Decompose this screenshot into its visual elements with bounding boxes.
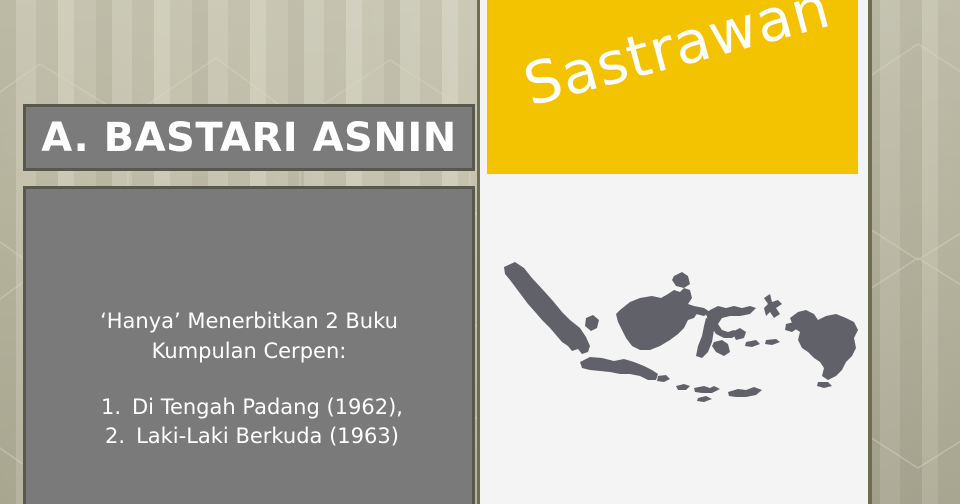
panel-left-divider bbox=[477, 0, 480, 504]
slide-canvas: Sastrawan bbox=[0, 0, 960, 504]
category-banner-label: Sastrawan bbox=[499, 0, 855, 121]
indonesia-map-graphic bbox=[498, 258, 860, 406]
list-item-label: Di Tengah Padang (1962), bbox=[121, 393, 403, 423]
list-item-number: 2. bbox=[99, 422, 125, 452]
slide-body-box: ‘Hanya’ Menerbitkan 2 Buku Kumpulan Cerp… bbox=[23, 186, 475, 504]
page-title: A. BASTARI ASNIN bbox=[41, 115, 456, 161]
panel-right-divider bbox=[868, 0, 872, 504]
body-content: ‘Hanya’ Menerbitkan 2 Buku Kumpulan Cerp… bbox=[26, 307, 472, 452]
list-item: 2.Laki-Laki Berkuda (1963) bbox=[26, 422, 472, 452]
list-item: 1.Di Tengah Padang (1962), bbox=[26, 393, 472, 423]
slide-title-box: A. BASTARI ASNIN bbox=[23, 104, 475, 171]
list-item-number: 1. bbox=[95, 393, 121, 423]
category-banner: Sastrawan bbox=[487, 0, 858, 174]
list-item-label: Laki-Laki Berkuda (1963) bbox=[125, 422, 399, 452]
body-lead-line-2: Kumpulan Cerpen: bbox=[26, 337, 472, 367]
body-lead-line-1: ‘Hanya’ Menerbitkan 2 Buku bbox=[26, 307, 472, 337]
book-list: 1.Di Tengah Padang (1962), 2.Laki-Laki B… bbox=[26, 393, 472, 453]
indonesia-map-icon bbox=[498, 258, 860, 406]
body-spacer bbox=[26, 367, 472, 393]
